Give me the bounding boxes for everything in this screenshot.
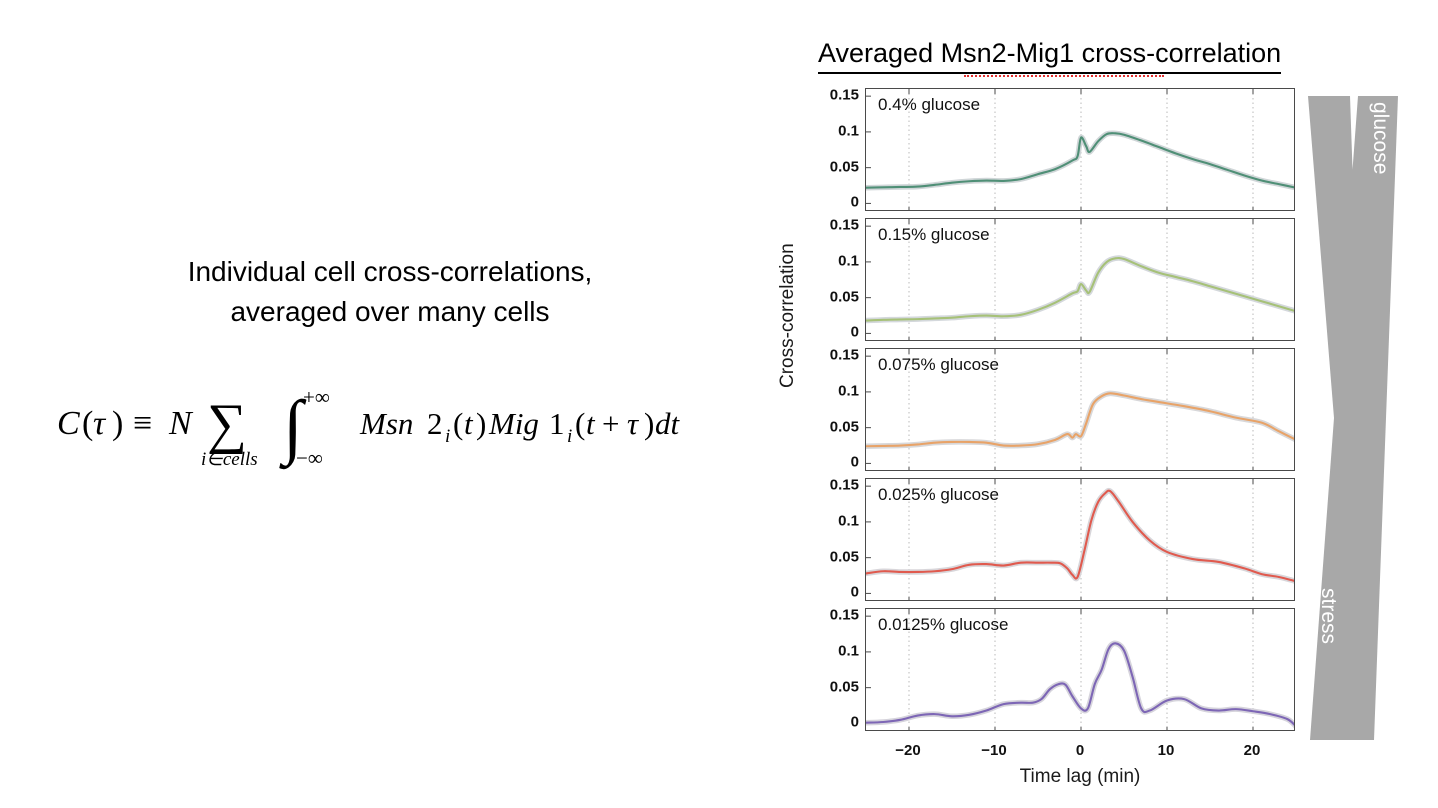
chart-panel: 00.050.10.15 0.0125% glucose: [795, 608, 1305, 733]
chart-panel: 00.050.10.15 0.025% glucose: [795, 478, 1305, 603]
svg-text:i: i: [567, 426, 572, 447]
svg-text:): ): [476, 406, 486, 441]
y-tick-label: 0.1: [838, 512, 859, 529]
plot-box: 0.075% glucose: [865, 348, 1295, 471]
svg-text:Msn: Msn: [359, 406, 413, 441]
y-tick-label: 0.05: [830, 288, 859, 305]
plot-box: 0.15% glucose: [865, 218, 1295, 341]
x-tick-label: 20: [1244, 742, 1261, 759]
y-tick-label: 0.1: [838, 252, 859, 269]
x-axis: Time lag (min) −20−1001020: [795, 738, 1305, 798]
svg-text:+∞: +∞: [303, 385, 330, 409]
y-tick-labels: 00.050.10.15: [813, 608, 863, 733]
error-band: [866, 393, 1295, 446]
y-tick-label: 0: [851, 194, 859, 211]
y-tick-labels: 00.050.10.15: [813, 218, 863, 343]
y-tick-labels: 00.050.10.15: [813, 478, 863, 603]
svg-text:i∈cells: i∈cells: [201, 449, 258, 470]
svg-text:≡: ≡: [133, 405, 152, 442]
formula-svg: C ( τ ) ≡ N ∑ i∈cells ∫ +∞ −∞ Msn 2 i ( …: [55, 372, 695, 482]
caption-line-2: averaged over many cells: [60, 292, 720, 332]
svg-text:t: t: [586, 406, 596, 441]
plot-box: 0.0125% glucose: [865, 608, 1295, 731]
plot-box: 0.4% glucose: [865, 88, 1295, 211]
panel-label: 0.15% glucose: [878, 225, 990, 245]
svg-text:τ: τ: [627, 406, 640, 441]
svg-text:−∞: −∞: [296, 446, 323, 470]
y-tick-label: 0: [851, 714, 859, 731]
wedges-svg: [1300, 88, 1432, 748]
spellcheck-underline: [964, 72, 1164, 77]
glucose-wedge-label: glucose: [1368, 102, 1392, 174]
panel-label: 0.025% glucose: [878, 485, 999, 505]
x-tick-label: 10: [1158, 742, 1175, 759]
svg-text:i: i: [445, 426, 450, 447]
y-tick-label: 0.15: [830, 347, 859, 364]
svg-text:Mig: Mig: [488, 406, 539, 441]
y-tick-label: 0.1: [838, 642, 859, 659]
svg-text:(: (: [82, 405, 93, 442]
panel-label: 0.075% glucose: [878, 355, 999, 375]
y-tick-label: 0.15: [830, 477, 859, 494]
y-tick-label: 0.1: [838, 122, 859, 139]
svg-text:2: 2: [427, 406, 443, 441]
caption-line-1: Individual cell cross-correlations,: [60, 252, 720, 292]
svg-text:): ): [112, 405, 123, 442]
chart-panels-container: Cross-correlation 00.050.10.15 0.4% gluc…: [795, 88, 1305, 798]
svg-text:): ): [644, 406, 654, 441]
gradient-wedges: glucose stress: [1300, 88, 1432, 748]
y-tick-label: 0.15: [830, 217, 859, 234]
panel-label: 0.0125% glucose: [878, 615, 1008, 635]
chart-panel: 00.050.10.15 0.4% glucose: [795, 88, 1305, 213]
y-tick-label: 0.1: [838, 382, 859, 399]
y-tick-label: 0: [851, 584, 859, 601]
error-band: [866, 258, 1295, 321]
panel-label: 0.4% glucose: [878, 95, 980, 115]
y-tick-label: 0: [851, 454, 859, 471]
svg-text:∑: ∑: [207, 393, 247, 455]
y-tick-label: 0.05: [830, 418, 859, 435]
y-tick-label: 0.05: [830, 548, 859, 565]
x-tick-label: −20: [895, 742, 920, 759]
svg-text:(: (: [453, 406, 463, 441]
stress-wedge-label: stress: [1316, 588, 1340, 644]
svg-text:+: +: [602, 406, 619, 441]
svg-text:t: t: [464, 406, 474, 441]
cross-correlation-formula: C ( τ ) ≡ N ∑ i∈cells ∫ +∞ −∞ Msn 2 i ( …: [55, 372, 695, 482]
svg-text:dt: dt: [655, 406, 681, 441]
y-tick-label: 0.15: [830, 607, 859, 624]
x-tick-label: 0: [1076, 742, 1084, 759]
svg-text:1: 1: [549, 406, 565, 441]
plot-box: 0.025% glucose: [865, 478, 1295, 601]
y-tick-labels: 00.050.10.15: [813, 88, 863, 213]
y-tick-label: 0.05: [830, 678, 859, 695]
left-content-panel: Individual cell cross-correlations, aver…: [0, 0, 790, 808]
chart-title: Averaged Msn2-Mig1 cross-correlation: [818, 38, 1281, 74]
x-tick-label: −10: [981, 742, 1006, 759]
svg-text:(: (: [575, 406, 585, 441]
svg-text:C: C: [57, 405, 80, 442]
y-tick-label: 0.05: [830, 158, 859, 175]
chart-panel: 00.050.10.15 0.075% glucose: [795, 348, 1305, 473]
caption-block: Individual cell cross-correlations, aver…: [60, 252, 720, 332]
y-tick-labels: 00.050.10.15: [813, 348, 863, 473]
y-tick-label: 0.15: [830, 87, 859, 104]
chart-panel: 00.050.10.15 0.15% glucose: [795, 218, 1305, 343]
y-tick-label: 0: [851, 324, 859, 341]
svg-text:τ: τ: [93, 405, 107, 442]
svg-text:N: N: [168, 405, 194, 442]
x-axis-label: Time lag (min): [865, 766, 1295, 788]
